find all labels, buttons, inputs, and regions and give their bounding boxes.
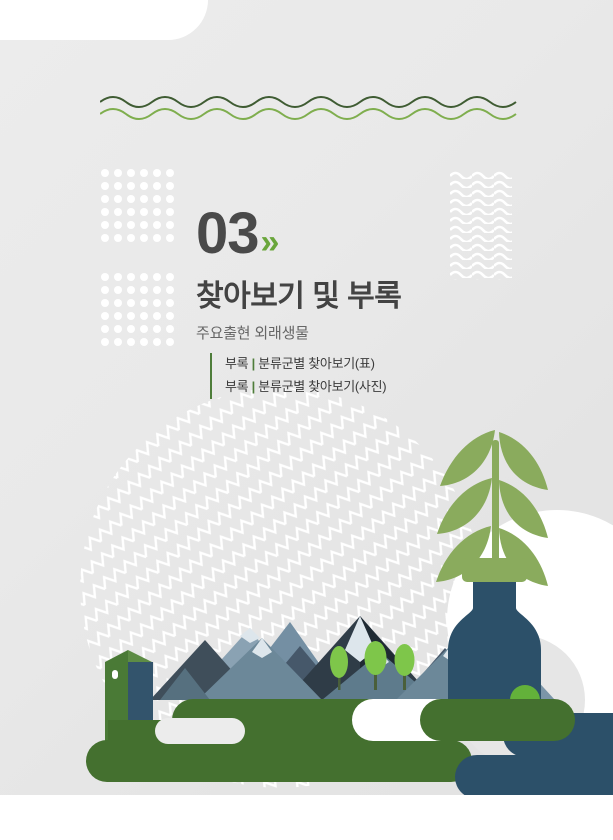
toc-list: 부록 | 분류군별 찾아보기(표) 부록 | 분류군별 찾아보기(사진) — [210, 353, 386, 399]
toc-prefix: 부록 — [225, 356, 248, 371]
top-left-white-notch-2 — [0, 0, 208, 40]
chevron-double-right-icon: » — [261, 225, 276, 259]
wavy-divider — [100, 93, 520, 121]
cover-page: 03 » 찾아보기 및 부록 주요출현 외래생물 부록 | 분류군별 찾아보기(… — [0, 0, 613, 840]
illustration-scene — [0, 400, 613, 840]
toc-separator: | — [252, 356, 255, 371]
tower-window — [112, 670, 118, 679]
vase-body — [448, 582, 541, 700]
toc-prefix: 부록 — [225, 379, 248, 394]
land-negative-space-gray — [155, 718, 245, 744]
land-strip-join — [225, 699, 365, 759]
list-item[interactable]: 부록 | 분류군별 찾아보기(표) — [225, 353, 386, 376]
dot-grid-pattern — [100, 168, 178, 348]
toc-label: 분류군별 찾아보기(표) — [258, 356, 374, 371]
page-title: 찾아보기 및 부록 — [196, 271, 576, 315]
vase-collar — [462, 558, 527, 582]
section-number: 03 — [196, 205, 259, 263]
toc-label: 분류군별 찾아보기(사진) — [258, 379, 386, 394]
bottom-white-strip — [0, 795, 613, 840]
page-subtitle: 주요출현 외래생물 — [196, 322, 576, 343]
toc-separator: | — [252, 379, 255, 394]
land-strip-right — [420, 699, 575, 741]
list-item[interactable]: 부록 | 분류군별 찾아보기(사진) — [225, 376, 386, 399]
title-block: 03 » 찾아보기 및 부록 주요출현 외래생물 — [196, 205, 576, 343]
